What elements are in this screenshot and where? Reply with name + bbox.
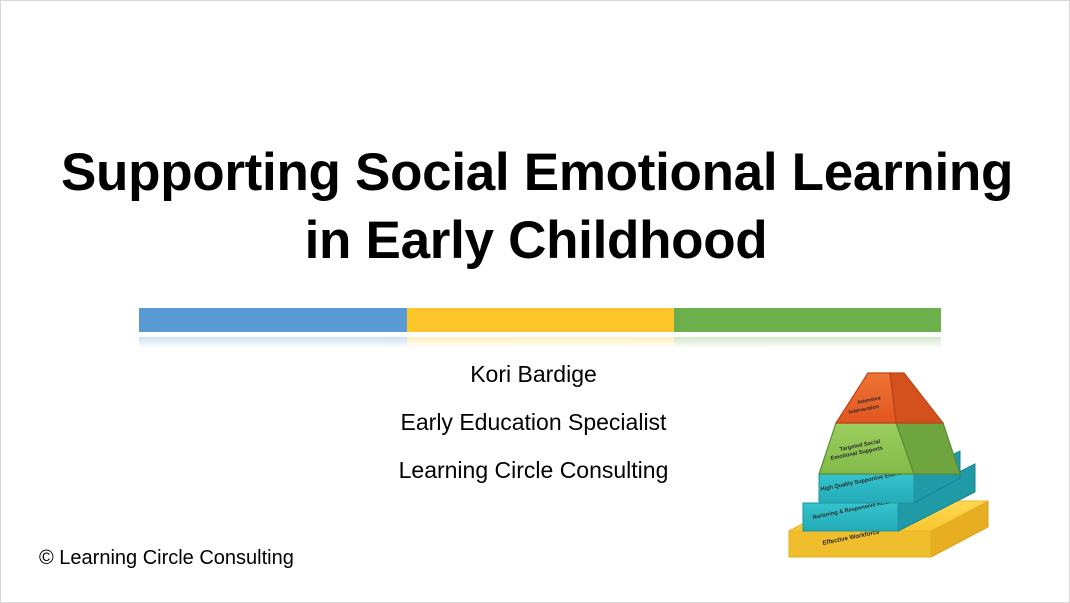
title-line-1: Supporting Social Emotional Learning: [61, 139, 1011, 207]
pyramid-diagram: Effective Workforce Nurturing & Responsi…: [783, 361, 1011, 583]
divider-reflection-yellow: [407, 337, 674, 348]
divider-segment-yellow: [407, 308, 674, 332]
pyramid-tier-targeted-social-emotional-supports: Targeted Social Emotional Supports: [819, 423, 960, 474]
presentation-slide: Supporting Social Emotional Learning in …: [0, 0, 1070, 603]
copyright-notice: © Learning Circle Consulting: [39, 547, 294, 570]
divider-segment-blue: [139, 308, 407, 332]
divider: [139, 308, 941, 348]
divider-segment-green: [674, 308, 941, 332]
divider-reflection-blue: [139, 337, 407, 348]
divider-reflection: [139, 337, 941, 348]
title-line-2: in Early Childhood: [61, 207, 1011, 275]
pyramid-tier-intensive-intervention: Intensive Intervention: [836, 373, 943, 423]
page-title: Supporting Social Emotional Learning in …: [61, 139, 1011, 275]
divider-bar: [139, 308, 941, 332]
tier1-right-face: [890, 373, 943, 423]
divider-reflection-green: [674, 337, 941, 348]
